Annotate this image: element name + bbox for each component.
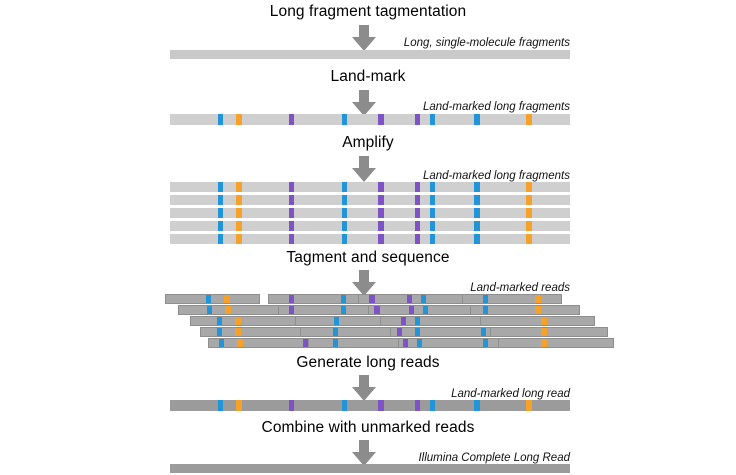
- caption-illumina-complete-long-read: Illumina Complete Long Read: [418, 452, 570, 464]
- workflow-diagram: Long fragment tagmentation Long, single-…: [0, 0, 736, 475]
- step-title-combine-with-unmarked-reads: Combine with unmarked reads: [0, 419, 736, 437]
- down-arrow-icon: [352, 440, 376, 466]
- panel-illumina-complete-long-read: Combine with unmarked reads Illumina Com…: [0, 0, 736, 475]
- bar-illumina-complete-long-read: [170, 464, 570, 473]
